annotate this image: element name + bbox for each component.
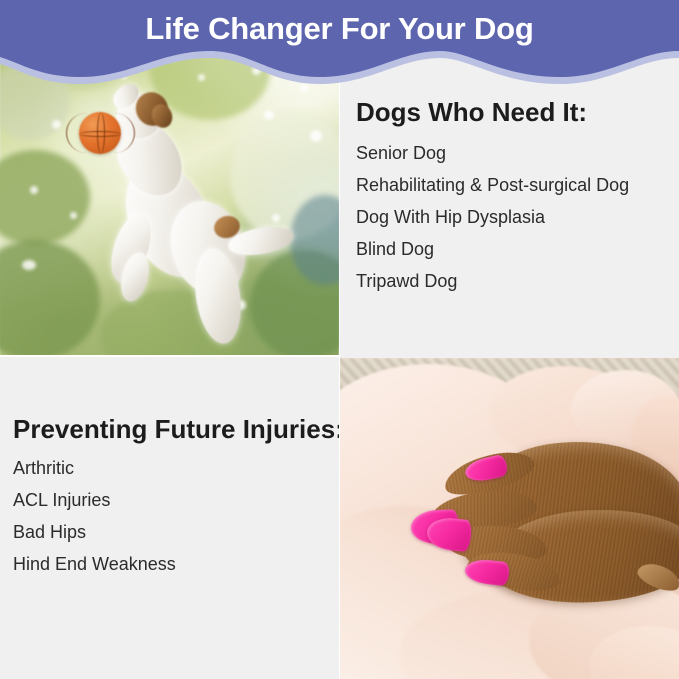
photo-panel-paw-nail-caps xyxy=(339,358,679,679)
jack-russell-leaping-for-ball-photo xyxy=(0,0,339,356)
list-item: Dog With Hip Dysplasia xyxy=(356,201,629,233)
infographic-page: Dogs Who Need It: Senior Dog Rehabilitat… xyxy=(0,0,679,679)
list-item: Blind Dog xyxy=(356,233,629,265)
list-item: ACL Injuries xyxy=(13,484,176,516)
preventing-future-injuries-list: Arthritic ACL Injuries Bad Hips Hind End… xyxy=(13,452,176,580)
list-item: Bad Hips xyxy=(13,516,176,548)
dogs-who-need-it-list: Senior Dog Rehabilitating & Post-surgica… xyxy=(356,137,629,297)
divider-horizontal-left xyxy=(0,355,339,357)
photo-panel-leaping-dog xyxy=(0,0,339,356)
list-item: Hind End Weakness xyxy=(13,548,176,580)
list-item: Senior Dog xyxy=(356,137,629,169)
preventing-future-injuries-heading: Preventing Future Injuries: xyxy=(13,414,344,445)
list-item: Tripawd Dog xyxy=(356,265,629,297)
divider-vertical-top xyxy=(339,0,340,358)
list-item: Rehabilitating & Post-surgical Dog xyxy=(356,169,629,201)
divider-vertical-bottom xyxy=(339,358,340,679)
panel-dogs-who-need-it: Dogs Who Need It: Senior Dog Rehabilitat… xyxy=(339,0,679,358)
basketball xyxy=(79,112,121,154)
hand-holding-dog-paw-photo xyxy=(339,358,679,679)
list-item: Arthritic xyxy=(13,452,176,484)
dogs-who-need-it-heading: Dogs Who Need It: xyxy=(356,97,587,128)
page-title: Life Changer For Your Dog xyxy=(0,11,679,47)
